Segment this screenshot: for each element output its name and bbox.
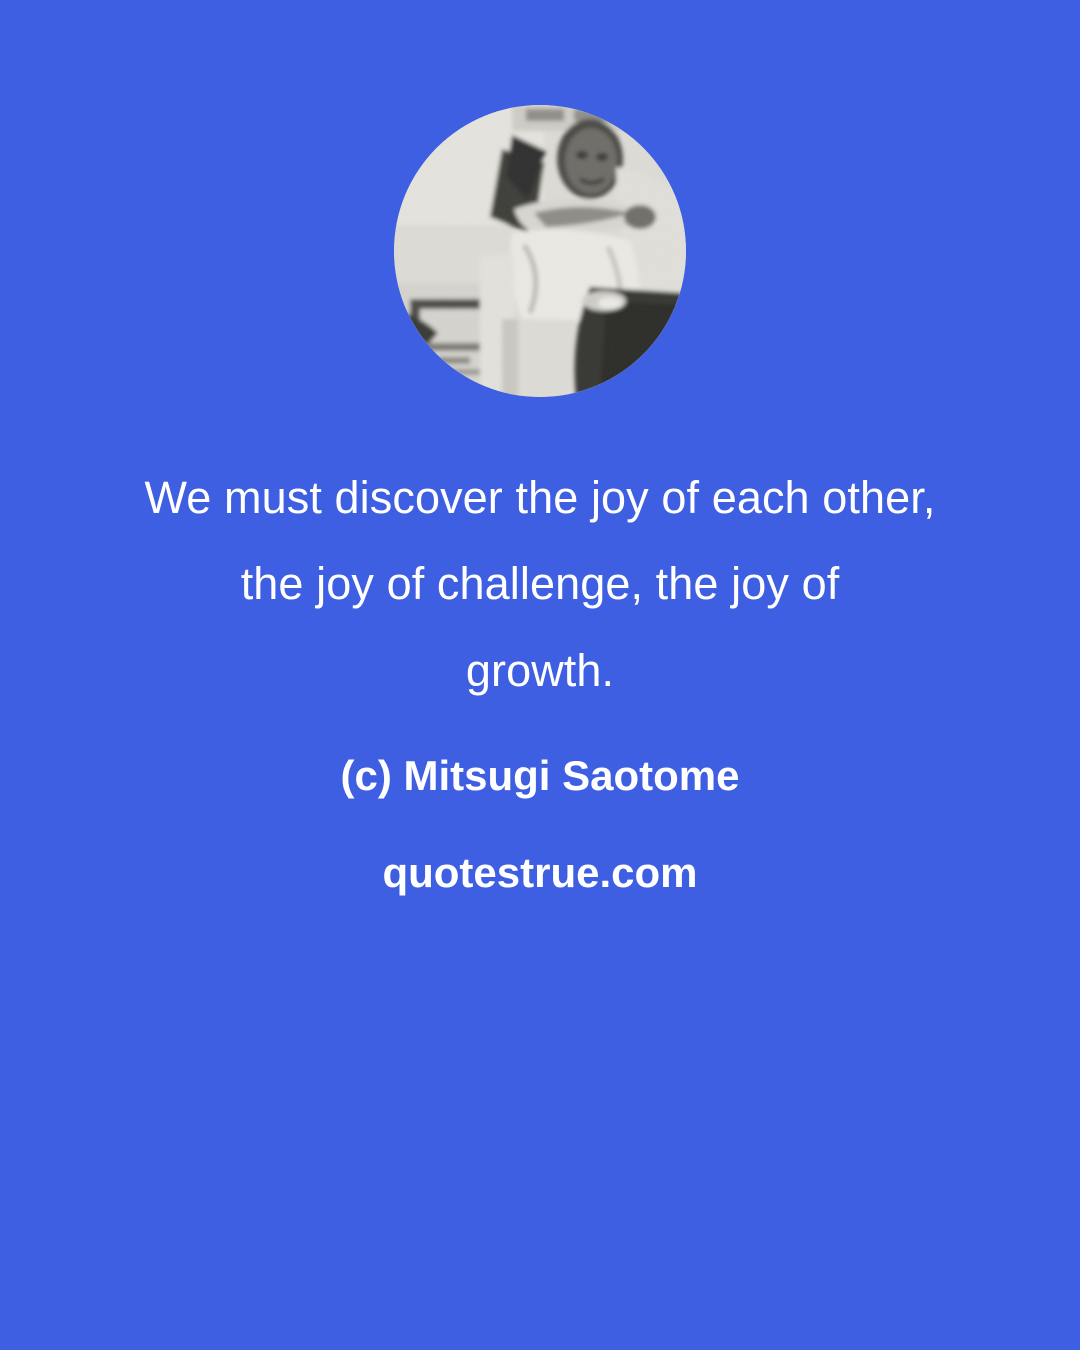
- quote-line-3: growth.: [0, 628, 1080, 714]
- avatar: [394, 105, 686, 397]
- site-watermark: quotestrue.com: [0, 803, 1080, 900]
- quote-line-1: We must discover the joy of each other,: [0, 455, 1080, 541]
- quote-card: We must discover the joy of each other, …: [0, 0, 1080, 1350]
- quote-content: We must discover the joy of each other, …: [0, 455, 1080, 899]
- quote-line-2: the joy of challenge, the joy of: [0, 541, 1080, 627]
- quote-attribution: (c) Mitsugi Saotome: [0, 714, 1080, 803]
- avatar-photo-circle: [394, 105, 686, 397]
- portrait-photo-icon: [394, 105, 686, 397]
